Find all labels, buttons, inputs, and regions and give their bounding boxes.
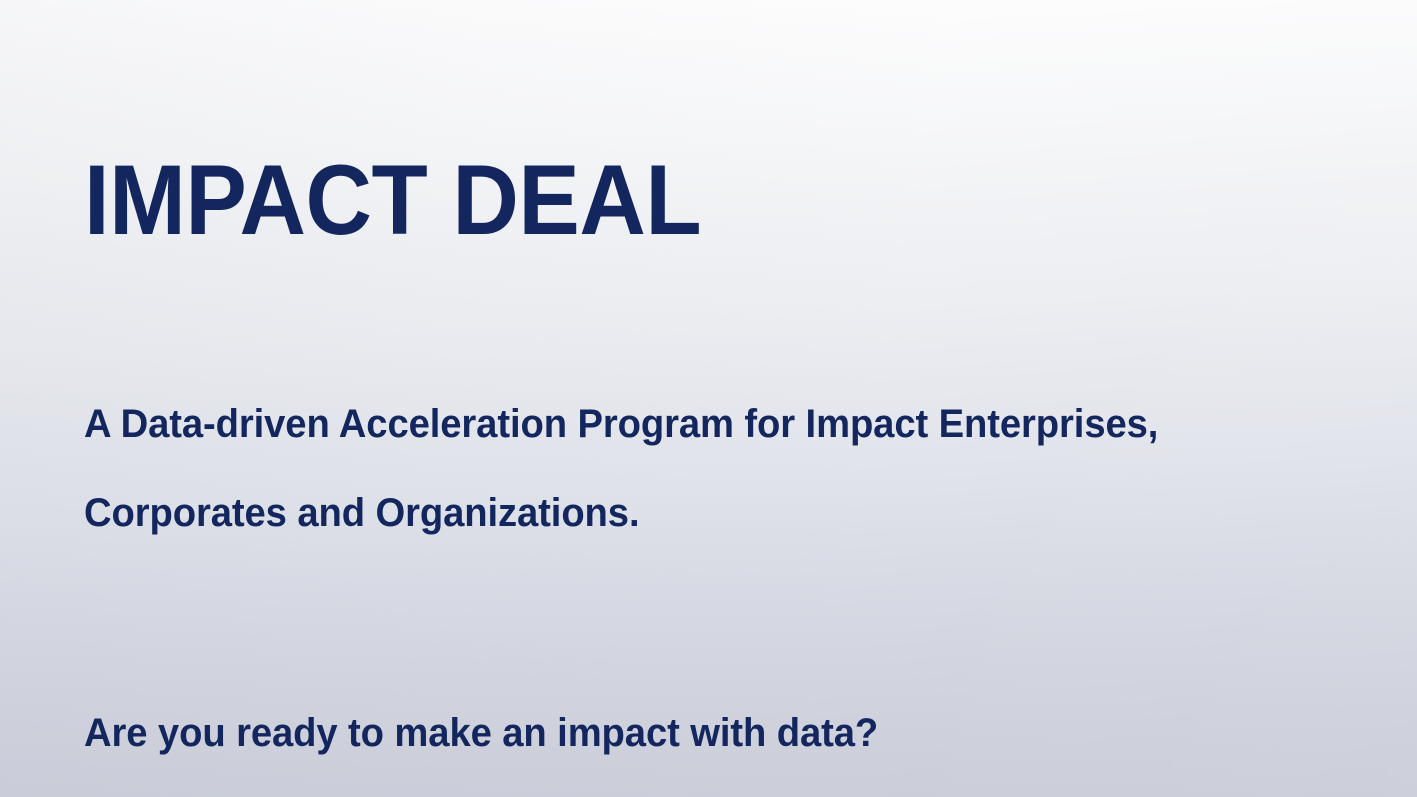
page-title: IMPACT DEAL (84, 150, 701, 249)
slide-call-to-action: Are you ready to make an impact with dat… (84, 703, 878, 763)
slide-content: IMPACT DEAL A Data-driven Acceleration P… (0, 0, 1417, 797)
slide-subtitle: A Data-driven Acceleration Program for I… (84, 380, 1316, 558)
presentation-slide: IMPACT DEAL A Data-driven Acceleration P… (0, 0, 1417, 797)
